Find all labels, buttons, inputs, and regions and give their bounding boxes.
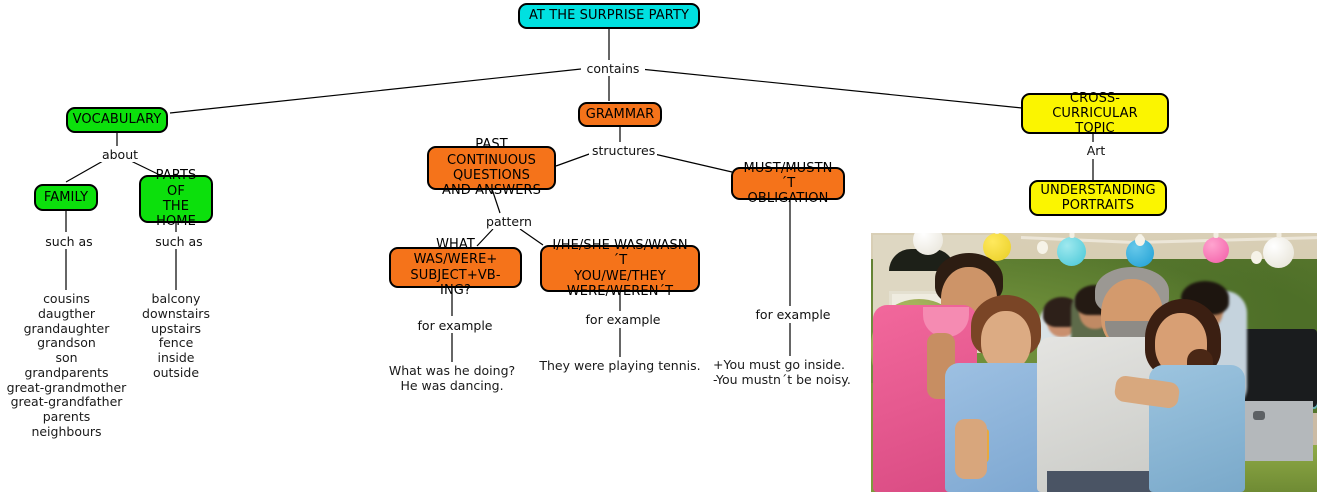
photo-bulb-2 xyxy=(1135,235,1145,246)
photo-grill-base xyxy=(1243,401,1313,461)
node-understanding-portraits[interactable]: UNDERSTANDING PORTRAITS xyxy=(1029,180,1167,216)
photo-bulb-3 xyxy=(1251,251,1262,264)
node-family[interactable]: FAMILY xyxy=(34,184,98,211)
photo-person-blue-woman-arm xyxy=(955,419,987,479)
leaf-answer-example: They were playing tennis. xyxy=(530,359,710,374)
node-must-mustnt[interactable]: MUST/MUSTN´T OBLIGATION xyxy=(731,167,845,200)
node-vocabulary[interactable]: VOCABULARY xyxy=(66,107,168,133)
node-answer-pattern[interactable]: I/HE/SHE WAS/WASN´T YOU/WE/THEY WERE/WER… xyxy=(540,245,700,292)
photo-bulb-1 xyxy=(1037,241,1048,254)
family-party-photo xyxy=(871,233,1317,492)
node-past-continuous[interactable]: PAST CONTINUOUS QUESTIONS AND ANSWERS xyxy=(427,146,556,190)
node-question-pattern[interactable]: WHAT WAS/WERE+ SUBJECT+VB-ING? xyxy=(389,247,522,288)
photo-person-grey-jeans xyxy=(1047,471,1163,492)
photo-grill-hood xyxy=(1239,329,1317,407)
link-label-art: Art xyxy=(1069,143,1123,158)
photo-lantern-white-2 xyxy=(1263,237,1294,268)
concept-map-canvas: AT THE SURPRISE PARTY VOCABULARY FAMILY … xyxy=(0,0,1318,492)
leaf-question-example: What was he doing? He was dancing. xyxy=(376,364,528,394)
leaf-family-words: cousins daugther grandaughter grandson s… xyxy=(0,292,133,440)
link-label-such-as-home: such as xyxy=(144,234,214,249)
leaf-obligation-example: +You must go inside. -You mustn´t be noi… xyxy=(713,358,867,388)
photo-grill-knob xyxy=(1253,411,1265,420)
link-label-contains: contains xyxy=(581,61,645,76)
node-root[interactable]: AT THE SURPRISE PARTY xyxy=(518,3,700,29)
leaf-home-words: balcony downstairs upstairs fence inside… xyxy=(134,292,218,381)
node-parts-of-the-home[interactable]: PARTS OF THE HOME xyxy=(139,175,213,223)
link-label-for-example-obligation: for example xyxy=(750,307,836,322)
link-label-about: about xyxy=(95,147,145,162)
link-label-for-example-question: for example xyxy=(412,318,498,333)
node-grammar[interactable]: GRAMMAR xyxy=(578,102,662,127)
link-label-such-as-family: such as xyxy=(34,234,104,249)
link-label-pattern: pattern xyxy=(481,214,537,229)
photo-lantern-cyan xyxy=(1057,237,1086,266)
photo-lantern-pink xyxy=(1203,237,1229,263)
photo-person-blue-woman-head xyxy=(981,311,1031,371)
node-cross-curricular-topic[interactable]: CROSS-CURRICULAR TOPIC xyxy=(1021,93,1169,134)
link-label-for-example-answer: for example xyxy=(580,312,666,327)
link-label-structures: structures xyxy=(589,143,657,158)
